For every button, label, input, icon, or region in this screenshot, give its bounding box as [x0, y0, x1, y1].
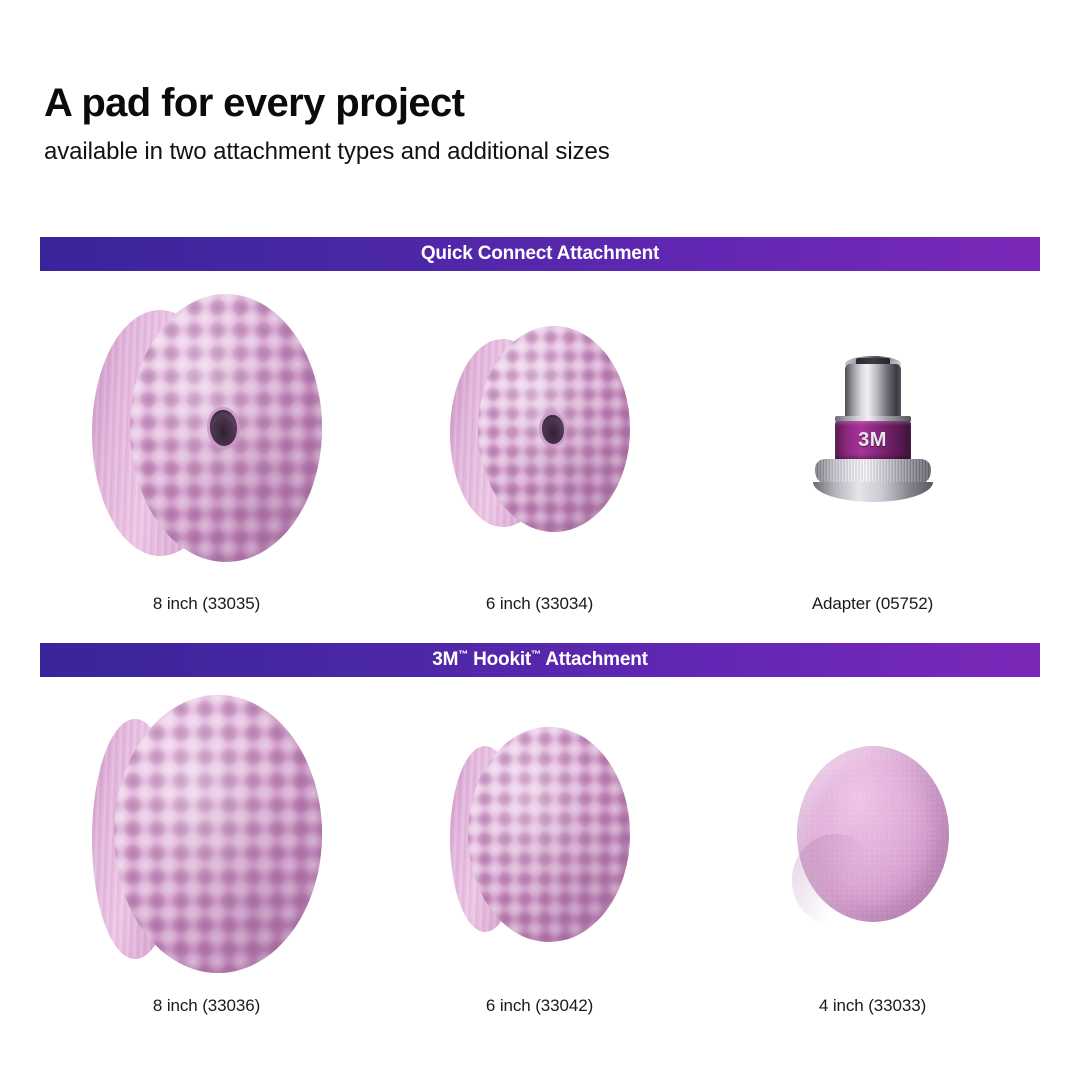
product-caption: 8 inch (33035): [153, 594, 260, 614]
product-cell[interactable]: 4 inch (33033): [706, 684, 1039, 1029]
pad-face: [468, 727, 630, 942]
product-image-waffle-pad-6in-quick-connect: [373, 278, 706, 578]
pad-edge: [792, 834, 880, 926]
page-subtitle: available in two attachment types and ad…: [44, 138, 1004, 166]
trademark-symbol: ™: [458, 650, 468, 661]
adapter-shank: [845, 364, 901, 418]
adapter-collar: 3M: [835, 421, 911, 461]
pad-shading: [114, 695, 322, 973]
trademark-symbol: ™: [531, 650, 541, 661]
product-sheet: A pad for every project available in two…: [0, 0, 1080, 1080]
product-caption: 8 inch (33036): [153, 996, 260, 1016]
banner-text-hookit: Hookit: [468, 649, 531, 670]
page-header: A pad for every project available in two…: [44, 82, 1004, 166]
product-cell[interactable]: 3M Adapter (05752): [706, 278, 1039, 623]
product-cell[interactable]: 8 inch (33035): [40, 278, 373, 623]
pad-face-smooth: [797, 746, 949, 922]
adapter-base-lip: [813, 482, 933, 502]
section-banner-quick-connect: Quick Connect Attachment: [40, 237, 1040, 271]
product-caption: Adapter (05752): [812, 594, 933, 614]
product-image-waffle-pad-8in-quick-connect: [40, 278, 373, 578]
section-banner-label: Quick Connect Attachment: [421, 243, 659, 265]
product-image-waffle-pad-6in-hookit: [373, 684, 706, 984]
section-banner-hookit: 3M™ Hookit™ Attachment: [40, 643, 1040, 677]
pad-face: [114, 695, 322, 973]
product-caption: 6 inch (33034): [486, 594, 593, 614]
product-caption: 6 inch (33042): [486, 996, 593, 1016]
section-banner-label: 3M™ Hookit™ Attachment: [432, 649, 648, 671]
product-row-quick-connect: 8 inch (33035) 6 inch (33034): [40, 278, 1040, 623]
product-image-waffle-pad-8in-hookit: [40, 684, 373, 984]
product-row-hookit: 8 inch (33036) 6 inch (33042): [40, 684, 1040, 1029]
banner-text-3m: 3M: [432, 649, 458, 670]
product-image-quick-connect-adapter: 3M: [706, 278, 1039, 578]
product-caption: 4 inch (33033): [819, 996, 926, 1016]
page-title: A pad for every project: [44, 82, 1004, 125]
product-cell[interactable]: 6 inch (33042): [373, 684, 706, 1029]
product-image-smooth-pad-4in-hookit: [706, 684, 1039, 984]
product-cell[interactable]: 8 inch (33036): [40, 684, 373, 1029]
brand-logo-3m: 3M: [858, 429, 887, 452]
product-cell[interactable]: 6 inch (33034): [373, 278, 706, 623]
banner-text-attachment: Attachment: [541, 649, 648, 670]
pad-shading: [468, 727, 630, 942]
